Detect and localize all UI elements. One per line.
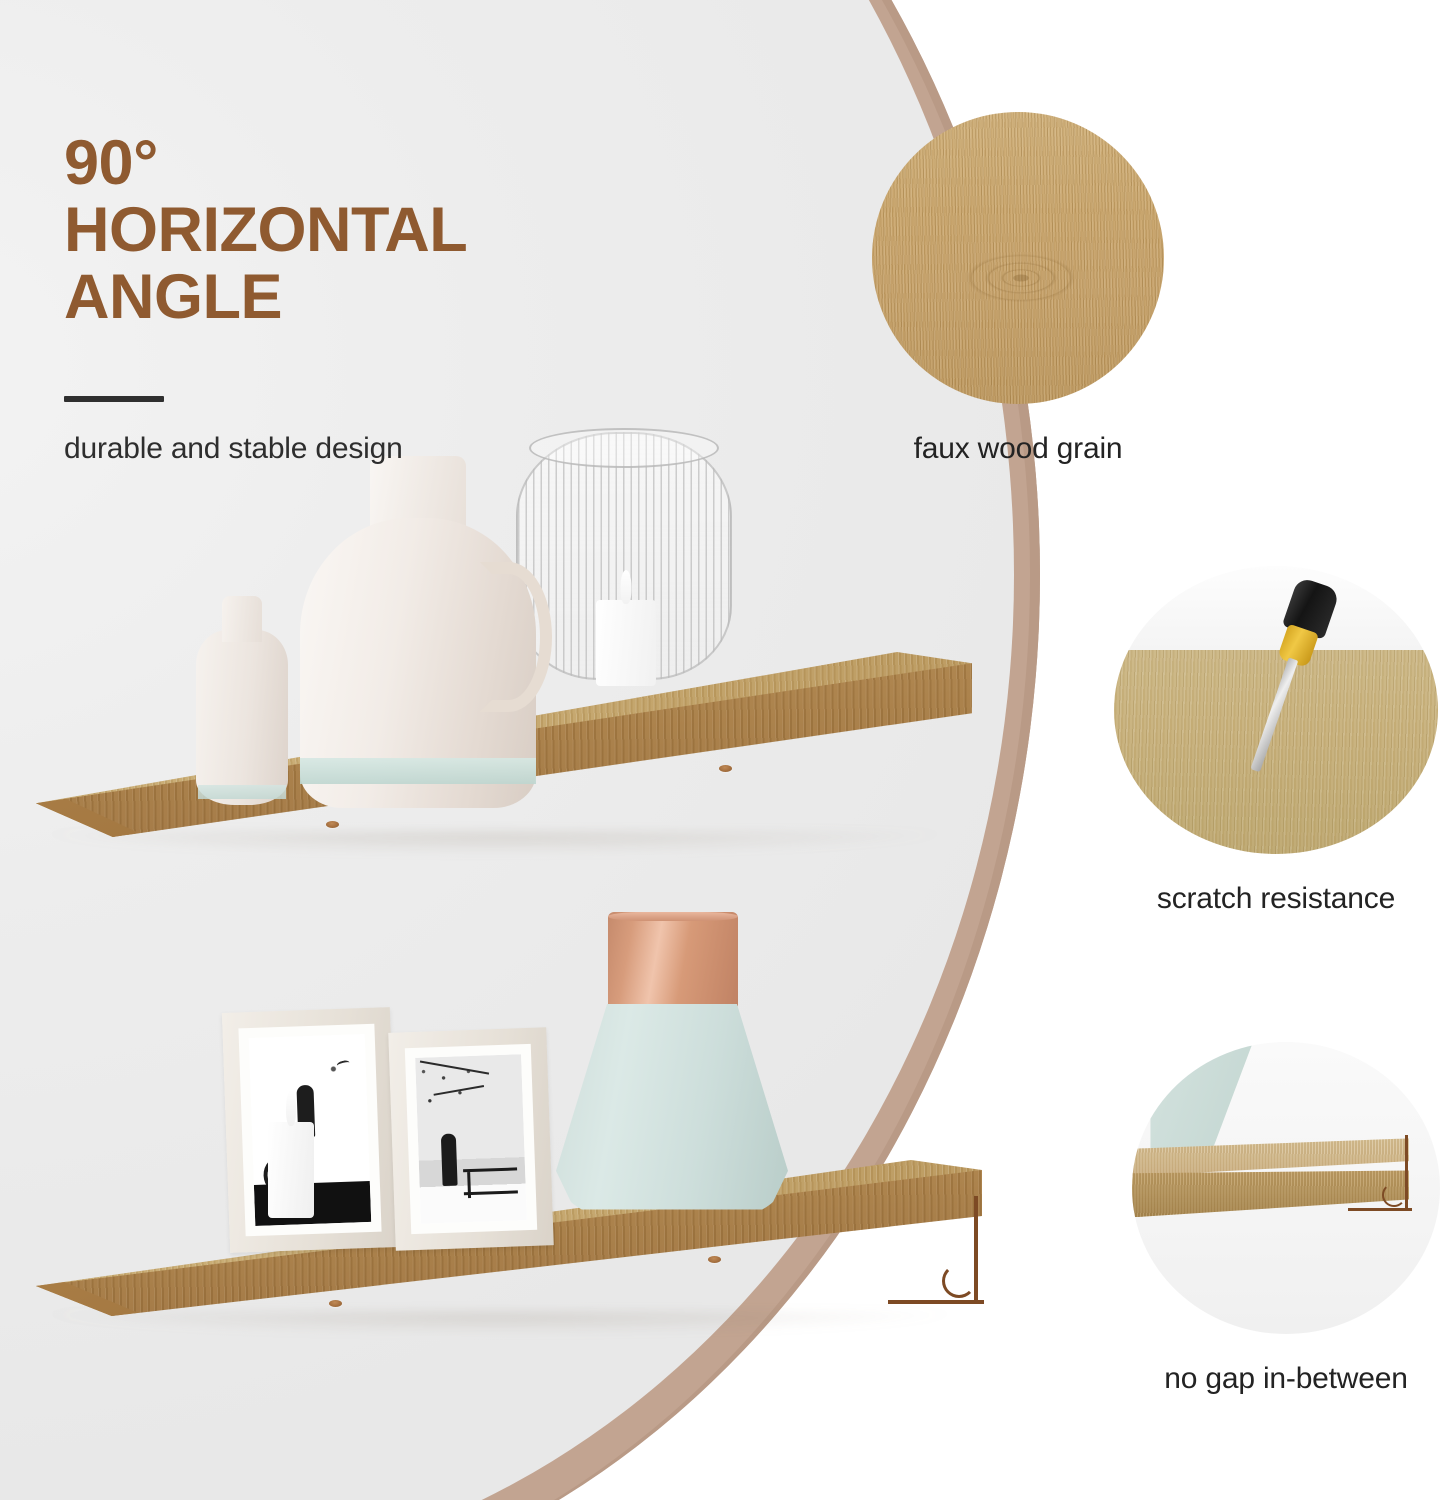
infographic-canvas: 90° HORIZONTAL ANGLE durable and stable … — [0, 0, 1445, 1500]
headline-line-1: 90° — [64, 130, 624, 197]
angle-marker-horizontal — [888, 1300, 984, 1304]
lower-shelf-screw-hole — [329, 1300, 342, 1307]
small-white-bottle-vase — [196, 630, 288, 805]
mini-mint-vase — [1150, 1042, 1255, 1153]
feature-faux-wood-grain: faux wood grain — [868, 112, 1168, 466]
feature-caption: no gap in-between — [1128, 1362, 1444, 1396]
upper-shelf-screw-hole — [326, 821, 339, 828]
angle-marker-arc — [1382, 1183, 1406, 1207]
jug-mint-band — [300, 758, 536, 784]
subheading: durable and stable design — [64, 432, 624, 466]
bench-photo-artwork — [415, 1054, 527, 1224]
feature-caption: scratch resistance — [1108, 882, 1444, 916]
candle-flame-icon — [286, 1090, 296, 1126]
feature-no-gap: no gap in-between — [1128, 1042, 1444, 1396]
wood-grain-knot — [936, 240, 1105, 316]
angle-marker-horizontal — [1348, 1208, 1412, 1211]
white-ceramic-jug — [300, 518, 536, 808]
picture-frame-bench — [388, 1027, 554, 1250]
scratch-test-photo-icon — [1114, 566, 1438, 854]
small-vase-neck — [222, 596, 262, 642]
lower-shelf-screw-hole — [708, 1256, 721, 1263]
headline-line-2: HORIZONTAL — [64, 197, 624, 264]
small-vase-mint-band — [198, 785, 286, 799]
lower-shelf-shadow — [45, 1312, 953, 1334]
photo-person-silhouette — [441, 1134, 458, 1186]
lower-shelf-candle — [268, 1122, 314, 1218]
wood-grain-swatch-icon — [872, 112, 1164, 404]
upper-shelf-screw-hole — [719, 765, 732, 772]
angle-marker-vertical — [974, 1196, 978, 1304]
headline-divider-rule — [64, 396, 164, 402]
frame-photo — [415, 1054, 527, 1224]
upper-shelf-shadow — [45, 832, 944, 854]
screwdriver-shaft — [1250, 657, 1298, 772]
right-angle-marker-icon — [888, 1196, 984, 1304]
candle-flame-icon — [621, 570, 632, 604]
feature-caption: faux wood grain — [868, 432, 1168, 466]
page-title: 90° HORIZONTAL ANGLE — [64, 130, 624, 330]
feature-scratch-resistance: scratch resistance — [1108, 566, 1444, 916]
photo-bench-silhouette — [463, 1168, 518, 1196]
vase-copper-collar — [608, 912, 738, 1008]
right-angle-marker-icon — [1348, 1135, 1412, 1211]
shelf-edge-photo-icon — [1132, 1042, 1440, 1334]
angle-marker-vertical — [1405, 1135, 1408, 1211]
vase-mint-body — [556, 1004, 788, 1218]
mint-copper-vase — [556, 912, 788, 1218]
angle-marker-arc — [942, 1264, 976, 1298]
bird-icon — [336, 1060, 350, 1070]
headline-line-3: ANGLE — [64, 264, 624, 331]
upper-shelf-candle — [596, 600, 656, 686]
headline-block: 90° HORIZONTAL ANGLE durable and stable … — [64, 130, 624, 466]
